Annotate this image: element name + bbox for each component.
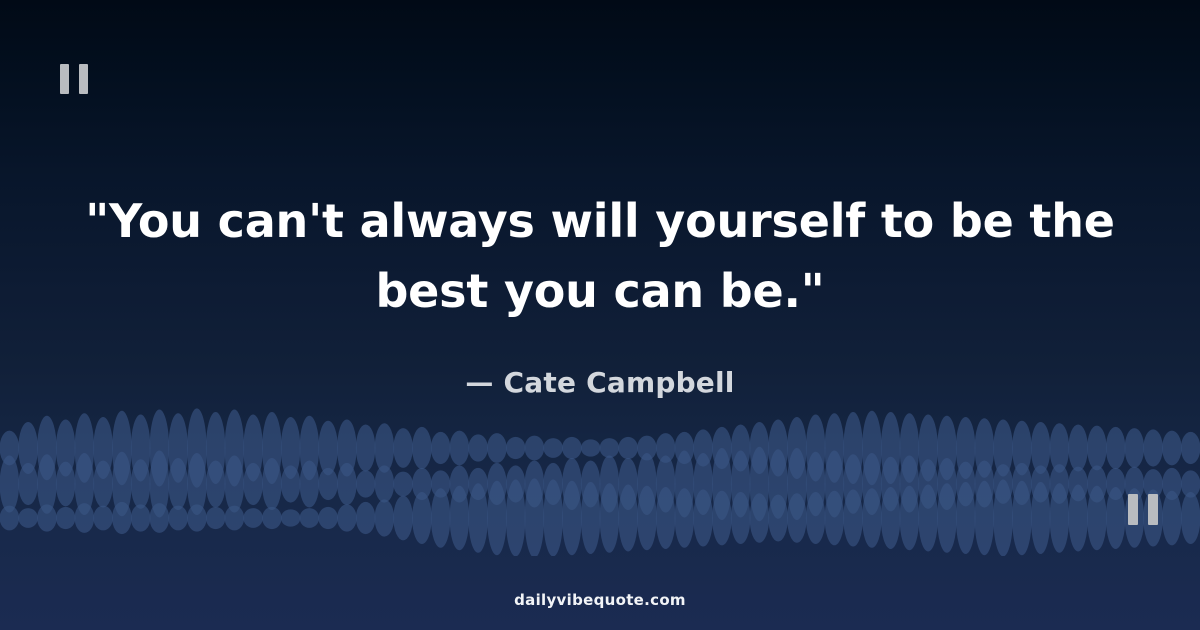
quote-text: "You can't always will yourself to be th… <box>85 186 1115 326</box>
quote-author: — Cate Campbell <box>465 366 734 400</box>
quote-content: "You can't always will yourself to be th… <box>0 0 1200 630</box>
quote-card: "You can't always will yourself to be th… <box>0 0 1200 630</box>
footer-website-label: dailyvibequote.com <box>0 591 1200 609</box>
